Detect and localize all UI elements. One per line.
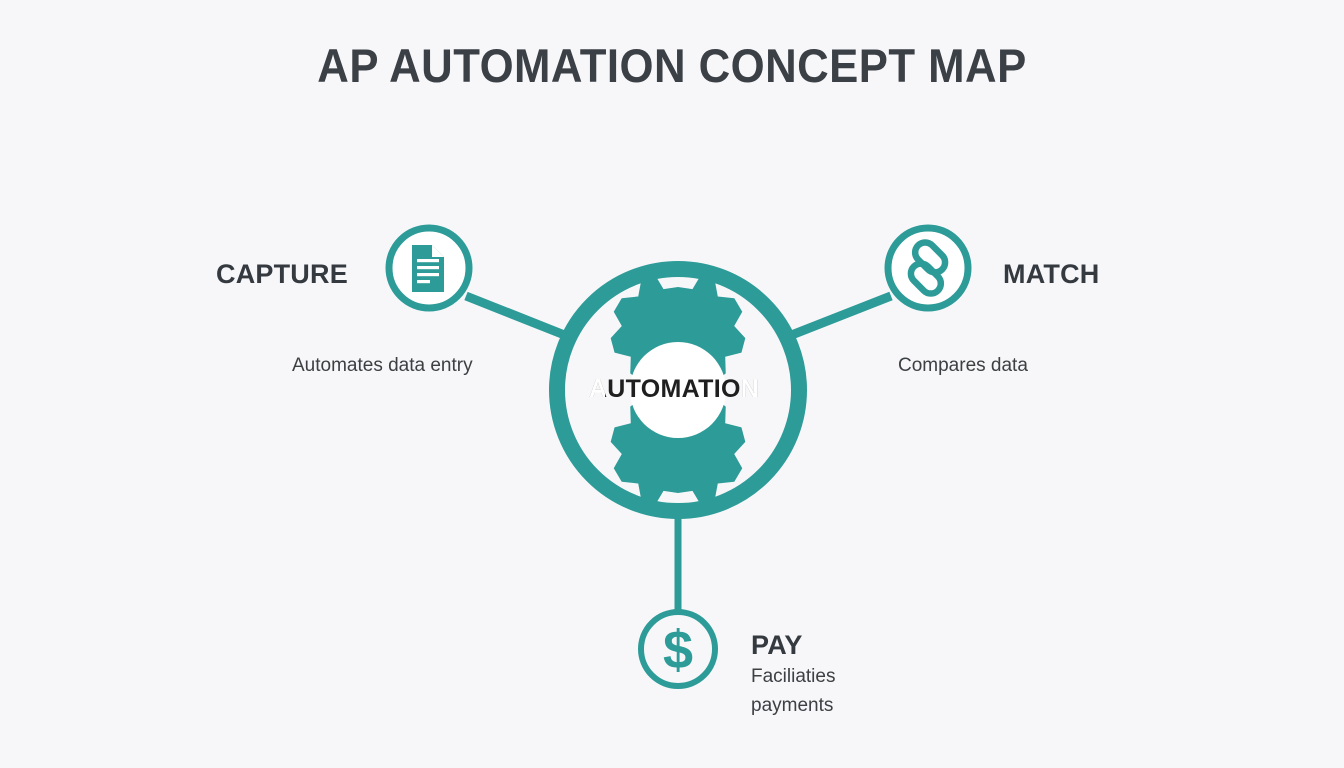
pay-caption: Faciliaties payments — [751, 663, 871, 720]
match-caption: Compares data — [898, 352, 1028, 381]
concept-map-canvas: AP AUTOMATION CONCEPT MAP — [0, 0, 1344, 768]
connector-capture-to-hub — [466, 296, 572, 338]
connector-match-to-hub — [784, 296, 891, 338]
match-label: MATCH — [1003, 259, 1099, 290]
node-capture[interactable] — [389, 228, 469, 308]
pay-label: PAY — [751, 630, 803, 661]
node-pay[interactable]: $ — [641, 612, 715, 686]
node-match[interactable] — [888, 228, 968, 308]
capture-label: CAPTURE — [216, 259, 348, 290]
dollar-icon: $ — [663, 620, 693, 680]
capture-caption: Automates data entry — [292, 352, 473, 381]
